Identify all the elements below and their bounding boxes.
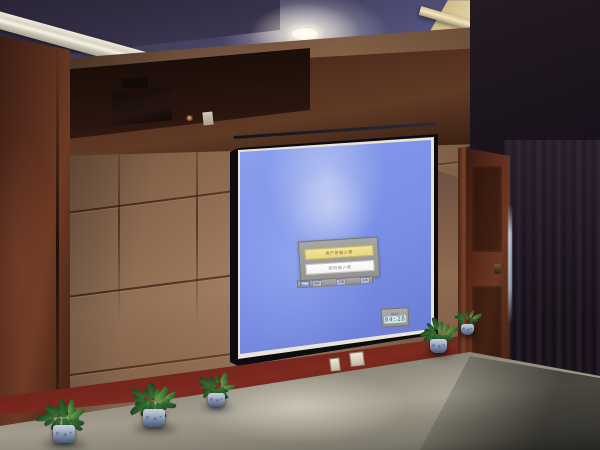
outlet-plate-right[interactable] [349,351,365,367]
projected-login-dialog[interactable]: 用户名输入框 密码输入框 [298,237,380,282]
valance-accent-lamp [185,115,194,121]
door-light-gap [508,204,512,324]
wall-mounted-speaker [112,86,172,126]
pot-pattern [461,327,474,331]
outlet-plate-left[interactable] [329,357,341,371]
pot-pattern [430,343,447,349]
ceramic-pot [430,339,447,353]
pot-pattern [53,430,75,437]
ceramic-pot [53,425,75,443]
ceramic-pot [461,324,474,335]
pot-pattern [143,414,165,421]
wood-column-edge [56,44,59,450]
password-field[interactable]: 密码输入框 [305,260,375,275]
start-button[interactable]: 开始 [300,280,310,288]
plant-leaf [215,375,219,384]
pot-pattern [208,397,225,403]
room-scene: 用户名输入框 密码输入框 开始 程序 文档 系统 时间 04:28 [0,0,600,450]
potted-plant-1 [38,398,90,448]
potted-plant-3 [196,372,236,412]
taskbar-spacer-2 [348,281,358,282]
door-panel-top [472,166,502,252]
door-handle[interactable] [494,264,501,274]
wood-column-left [0,36,70,450]
taskbar-spacer [324,282,334,283]
potted-plant-2 [128,382,180,432]
ceramic-pot [143,409,165,427]
clock-time: 04:28 [384,315,407,323]
valance-wall-plate [202,112,213,126]
taskbar-item-0[interactable]: 程序 [312,279,322,287]
downlight-ceiling-center [290,27,320,41]
username-field[interactable]: 用户名输入框 [304,245,374,260]
taskbar-item-2[interactable]: 系统 [360,276,370,284]
potted-plant-5 [452,308,482,340]
taskbar-item-1[interactable]: 文档 [336,278,346,286]
ceramic-pot [208,393,225,407]
projected-clock-widget[interactable]: 时间 04:28 [380,307,409,328]
speaker-mount-arm [122,77,149,89]
